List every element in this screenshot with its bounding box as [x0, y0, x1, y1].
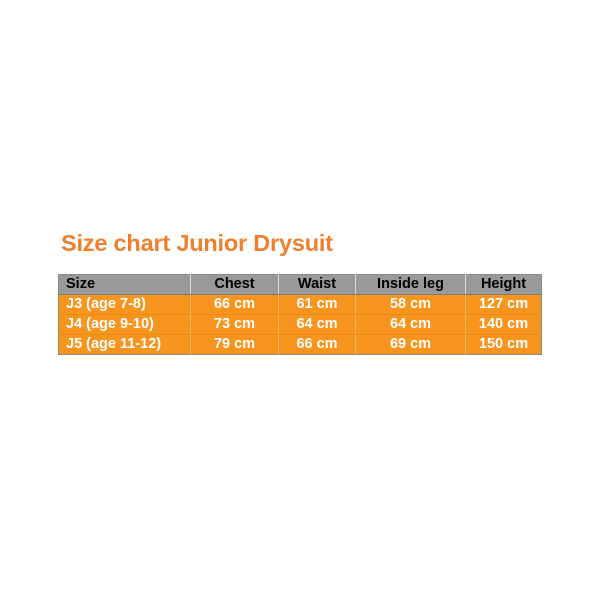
- size-chart-table-container: Size Chest Waist Inside leg Height J3 (a…: [58, 274, 541, 355]
- page-title: Size chart Junior Drysuit: [61, 229, 333, 257]
- cell-waist: 66 cm: [279, 335, 356, 355]
- cell-waist: 61 cm: [279, 295, 356, 315]
- column-header-waist: Waist: [279, 275, 356, 295]
- cell-height: 127 cm: [466, 295, 542, 315]
- cell-inside-leg: 58 cm: [356, 295, 466, 315]
- column-header-size: Size: [59, 275, 191, 295]
- cell-size: J4 (age 9-10): [59, 315, 191, 335]
- table-header-row: Size Chest Waist Inside leg Height: [59, 275, 542, 295]
- cell-chest: 79 cm: [191, 335, 279, 355]
- table-row: J5 (age 11-12) 79 cm 66 cm 69 cm 150 cm: [59, 335, 542, 355]
- column-header-chest: Chest: [191, 275, 279, 295]
- cell-waist: 64 cm: [279, 315, 356, 335]
- cell-chest: 73 cm: [191, 315, 279, 335]
- column-header-height: Height: [466, 275, 542, 295]
- cell-size: J5 (age 11-12): [59, 335, 191, 355]
- cell-height: 150 cm: [466, 335, 542, 355]
- table-row: J3 (age 7-8) 66 cm 61 cm 58 cm 127 cm: [59, 295, 542, 315]
- table-row: J4 (age 9-10) 73 cm 64 cm 64 cm 140 cm: [59, 315, 542, 335]
- cell-inside-leg: 64 cm: [356, 315, 466, 335]
- cell-size: J3 (age 7-8): [59, 295, 191, 315]
- page-canvas: Size chart Junior Drysuit Size Chest Wai…: [0, 0, 600, 600]
- cell-chest: 66 cm: [191, 295, 279, 315]
- cell-height: 140 cm: [466, 315, 542, 335]
- size-chart-table: Size Chest Waist Inside leg Height J3 (a…: [58, 274, 542, 355]
- cell-inside-leg: 69 cm: [356, 335, 466, 355]
- column-header-inside-leg: Inside leg: [356, 275, 466, 295]
